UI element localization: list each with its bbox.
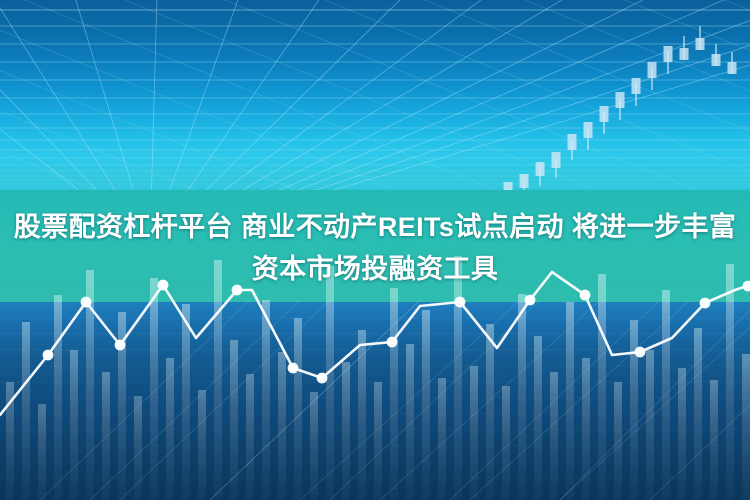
headline-line-1: 股票配资杠杆平台 商业不动产REITs试点启动 将进一步丰富 <box>14 212 737 242</box>
page-title: 股票配资杠杆平台 商业不动产REITs试点启动 将进一步丰富 资本市场投融资工具 <box>0 206 750 290</box>
banner-image: 股票配资杠杆平台 商业不动产REITs试点启动 将进一步丰富 资本市场投融资工具 <box>0 0 750 500</box>
headline-line-2: 资本市场投融资工具 <box>0 248 750 290</box>
bottom-vignette <box>0 302 750 500</box>
sky-gradient-background <box>0 0 750 192</box>
